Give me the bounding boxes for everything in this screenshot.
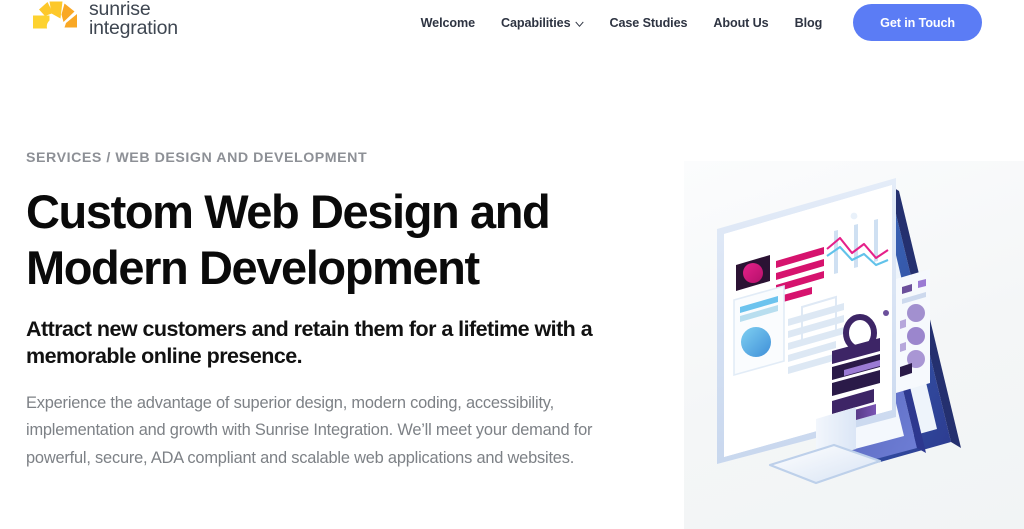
- hero-copy: SERVICES / WEB DESIGN AND DEVELOPMENT Cu…: [26, 150, 666, 472]
- isometric-monitors-illustration: [684, 161, 1024, 529]
- hero-subtitle: Attract new customers and retain them fo…: [26, 316, 651, 370]
- sunrise-logo-icon: [30, 0, 80, 38]
- hero-illustration-panel: [684, 161, 1024, 529]
- nav-item-case-studies-label: Case Studies: [610, 16, 688, 30]
- nav-item-about-us-label: About Us: [713, 16, 768, 30]
- nav-item-about-us[interactable]: About Us: [700, 16, 781, 30]
- get-in-touch-button[interactable]: Get in Touch: [853, 4, 982, 41]
- nav-item-capabilities[interactable]: Capabilities: [488, 16, 597, 30]
- brand-logo-link[interactable]: sunrise integration: [30, 0, 178, 38]
- hero-section: SERVICES / WEB DESIGN AND DEVELOPMENT Cu…: [0, 45, 1024, 484]
- nav-item-blog[interactable]: Blog: [782, 16, 836, 30]
- brand-word-line2: integration: [89, 19, 178, 38]
- nav-item-capabilities-label: Capabilities: [501, 16, 571, 30]
- nav-item-welcome[interactable]: Welcome: [408, 16, 488, 30]
- nav-item-welcome-label: Welcome: [421, 16, 475, 30]
- breadcrumb: SERVICES / WEB DESIGN AND DEVELOPMENT: [26, 150, 666, 166]
- monitor-front: [717, 178, 896, 464]
- main-navigation: Welcome Capabilities Case Studies About …: [408, 0, 982, 45]
- nav-item-blog-label: Blog: [795, 16, 823, 30]
- nav-item-case-studies[interactable]: Case Studies: [597, 16, 701, 30]
- hero-page: sunrise integration Welcome Capabilities…: [0, 0, 1024, 484]
- site-header: sunrise integration Welcome Capabilities…: [0, 0, 1024, 45]
- hero-description: Experience the advantage of superior des…: [26, 390, 656, 473]
- side-panel-widgets: [896, 269, 930, 393]
- brand-wordmark: sunrise integration: [89, 0, 178, 37]
- page-title: Custom Web Design and Modern Development: [26, 184, 646, 296]
- chevron-down-icon: [575, 20, 584, 29]
